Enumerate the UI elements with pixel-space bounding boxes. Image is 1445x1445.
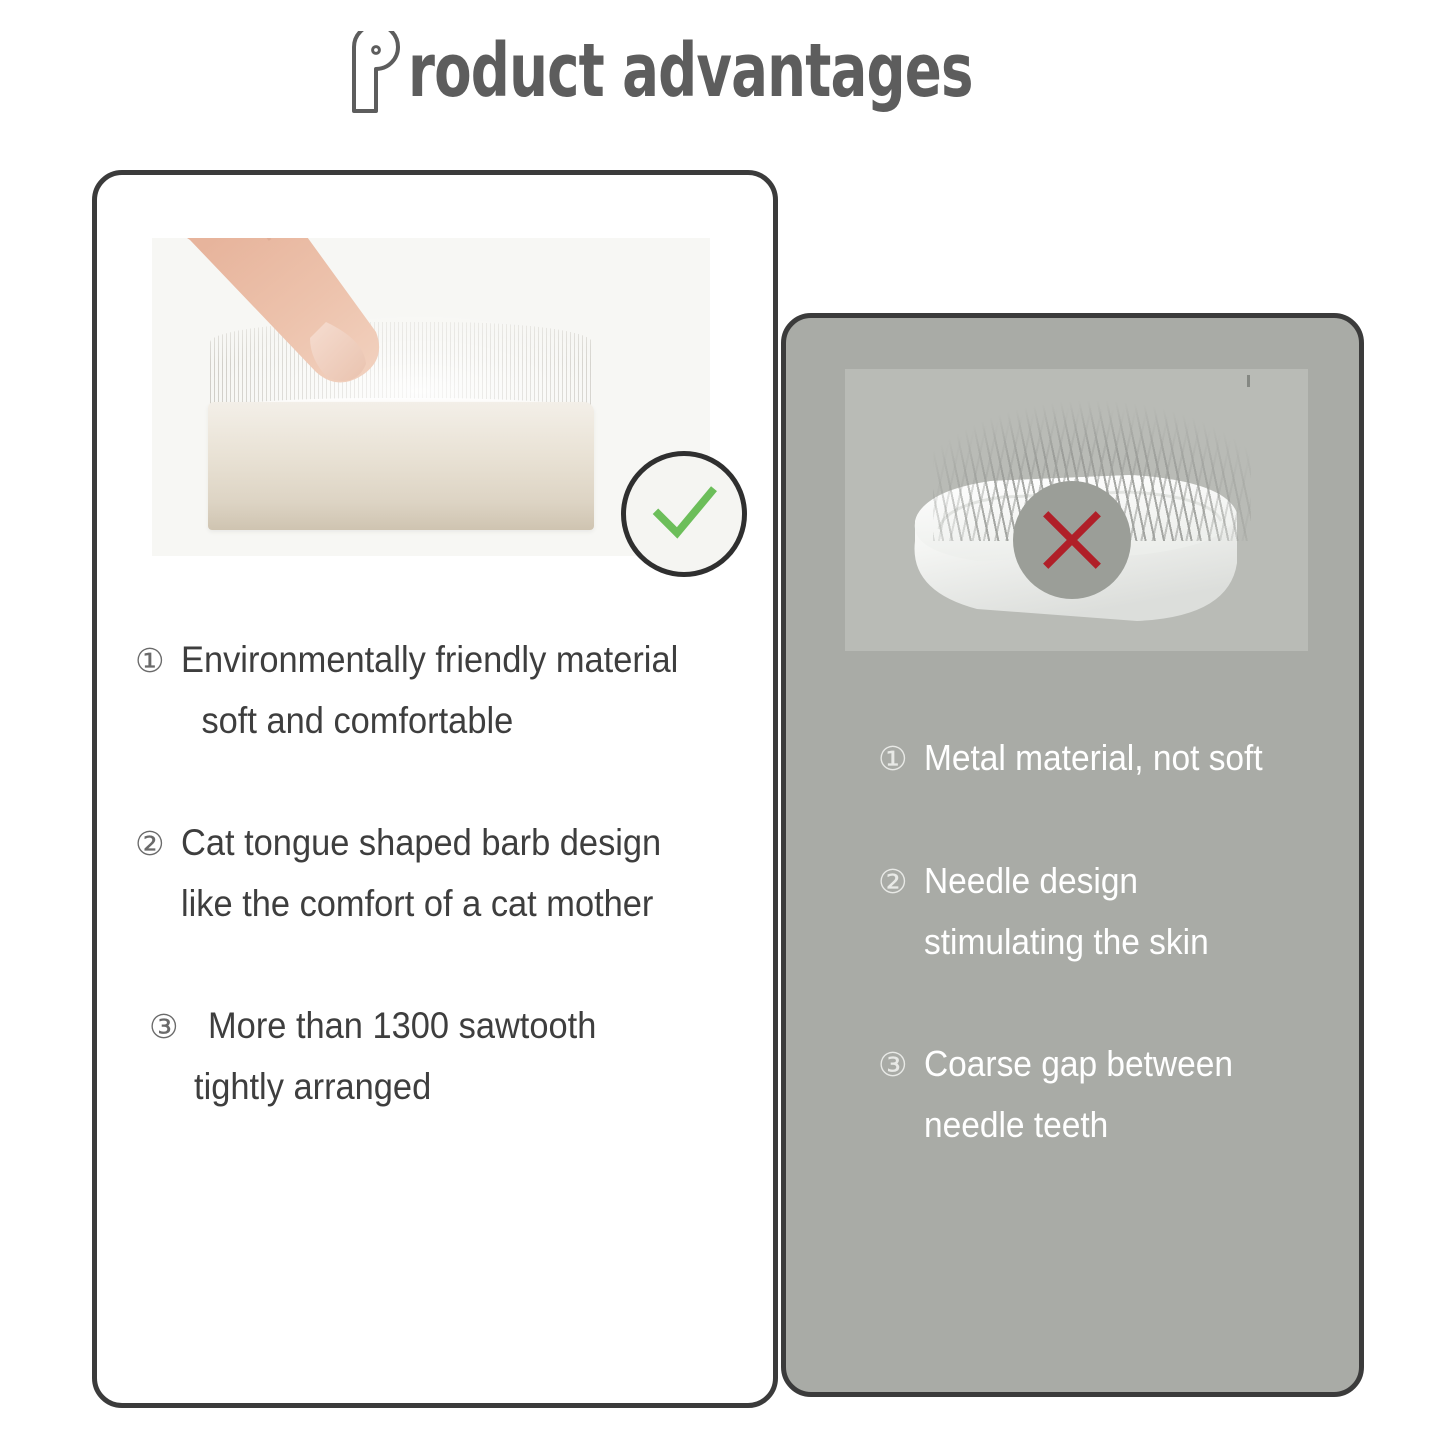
feature-second-line: stimulating the skin bbox=[878, 912, 1348, 972]
feature-second-line: soft and comfortable bbox=[135, 691, 765, 751]
feature-text: soft and comfortable bbox=[181, 691, 724, 751]
advantage-panel-good: ① Environmentally friendly material soft… bbox=[92, 170, 778, 1408]
feature-first-line: ③ Coarse gap between bbox=[878, 1034, 1348, 1095]
feature-text: like the comfort of a cat mother bbox=[181, 874, 724, 934]
feature-number: ① bbox=[135, 631, 181, 691]
feature-text: tightly arranged bbox=[181, 1057, 724, 1117]
feature-list-advantages: ① Environmentally friendly material soft… bbox=[135, 630, 765, 1179]
feature-first-line: ③ More than 1300 sawtooth bbox=[135, 996, 765, 1057]
feature-first-line: ① Metal material, not soft bbox=[878, 728, 1348, 789]
close-icon bbox=[1035, 503, 1109, 577]
feature-first-line: ② Cat tongue shaped barb design bbox=[135, 813, 765, 874]
feature-second-line: tightly arranged bbox=[135, 1057, 765, 1117]
list-item: ① Environmentally friendly material soft… bbox=[135, 630, 765, 751]
feature-number: ① bbox=[878, 729, 924, 789]
status-badge-rejected bbox=[1013, 481, 1131, 599]
feature-number: ② bbox=[135, 814, 181, 874]
feature-text: More than 1300 sawtooth bbox=[195, 996, 725, 1056]
feature-text: Cat tongue shaped barb design bbox=[181, 813, 724, 873]
feature-text: needle teeth bbox=[924, 1095, 1318, 1155]
feature-first-line: ② Needle design bbox=[878, 851, 1348, 912]
feature-text: Coarse gap between bbox=[924, 1034, 1318, 1094]
list-item: ③ More than 1300 sawtooth tightly arrang… bbox=[135, 996, 765, 1117]
list-item: ② Cat tongue shaped barb design like the… bbox=[135, 813, 765, 934]
feature-text: Needle design bbox=[924, 851, 1318, 911]
check-icon bbox=[641, 471, 727, 557]
page-title: roduct advantages bbox=[0, 26, 1445, 116]
feature-text: stimulating the skin bbox=[924, 912, 1318, 972]
feature-second-line: needle teeth bbox=[878, 1095, 1348, 1155]
photo-artifact-mark bbox=[1247, 375, 1250, 387]
feature-first-line: ① Environmentally friendly material bbox=[135, 630, 765, 691]
feature-second-line: like the comfort of a cat mother bbox=[135, 874, 765, 934]
page-title-text: roduct advantages bbox=[408, 34, 973, 108]
feature-text: Environmentally friendly material bbox=[181, 630, 724, 690]
list-item: ③ Coarse gap between needle teeth bbox=[878, 1034, 1348, 1155]
advantage-panel-bad: ① Metal material, not soft ② Needle desi… bbox=[781, 313, 1364, 1397]
feature-list-disadvantages: ① Metal material, not soft ② Needle desi… bbox=[878, 728, 1348, 1217]
feature-number: ② bbox=[878, 852, 924, 912]
feature-text: Metal material, not soft bbox=[924, 728, 1318, 788]
finger-pressing-icon bbox=[152, 238, 450, 452]
list-item: ① Metal material, not soft bbox=[878, 728, 1348, 789]
feature-number: ③ bbox=[135, 997, 195, 1057]
feature-number: ③ bbox=[878, 1035, 924, 1095]
list-item: ② Needle design stimulating the skin bbox=[878, 851, 1348, 972]
decorative-p-logo-icon bbox=[348, 31, 406, 113]
status-badge-approved bbox=[621, 451, 747, 577]
